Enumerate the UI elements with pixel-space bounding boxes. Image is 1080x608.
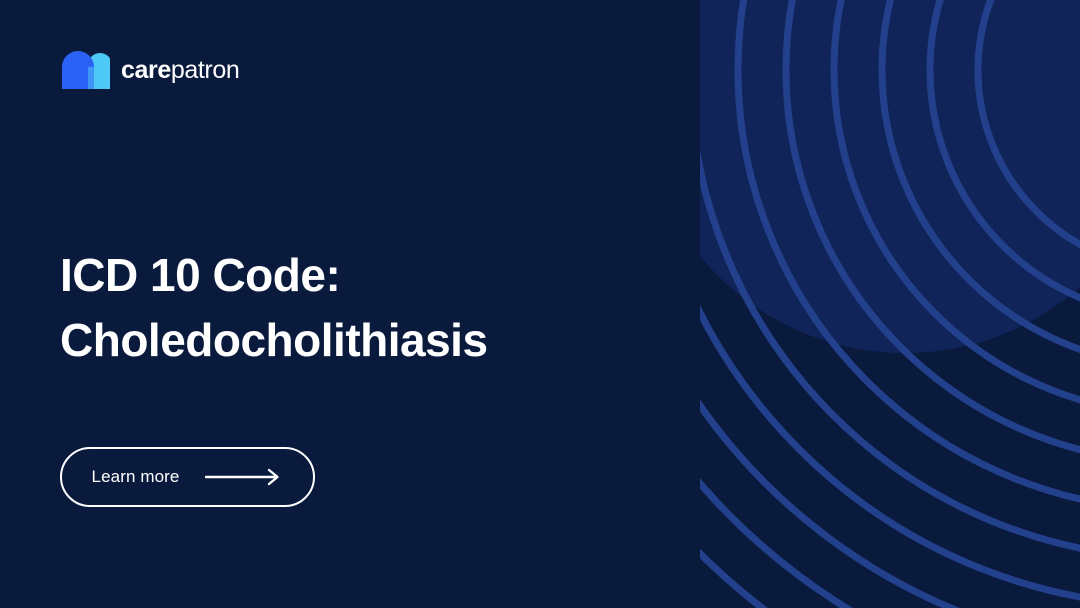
arrow-right-icon bbox=[205, 468, 283, 486]
learn-more-label: Learn more bbox=[92, 467, 180, 487]
title-line-1: ICD 10 Code: bbox=[60, 243, 660, 308]
page-title: ICD 10 Code: Choledocholithiasis bbox=[60, 243, 660, 374]
carepatron-wordmark: carepatron bbox=[121, 58, 239, 83]
wordmark-light: patron bbox=[171, 56, 240, 84]
decorative-circle bbox=[640, 0, 1080, 353]
wordmark-bold: care bbox=[121, 56, 171, 84]
carepatron-logo-mark bbox=[60, 51, 110, 89]
learn-more-button[interactable]: Learn more bbox=[60, 447, 315, 507]
icd-code-banner: carepatron ICD 10 Code: Choledocholithia… bbox=[0, 0, 1080, 608]
carepatron-logo[interactable]: carepatron bbox=[60, 50, 239, 90]
title-line-2: Choledocholithiasis bbox=[60, 308, 660, 373]
